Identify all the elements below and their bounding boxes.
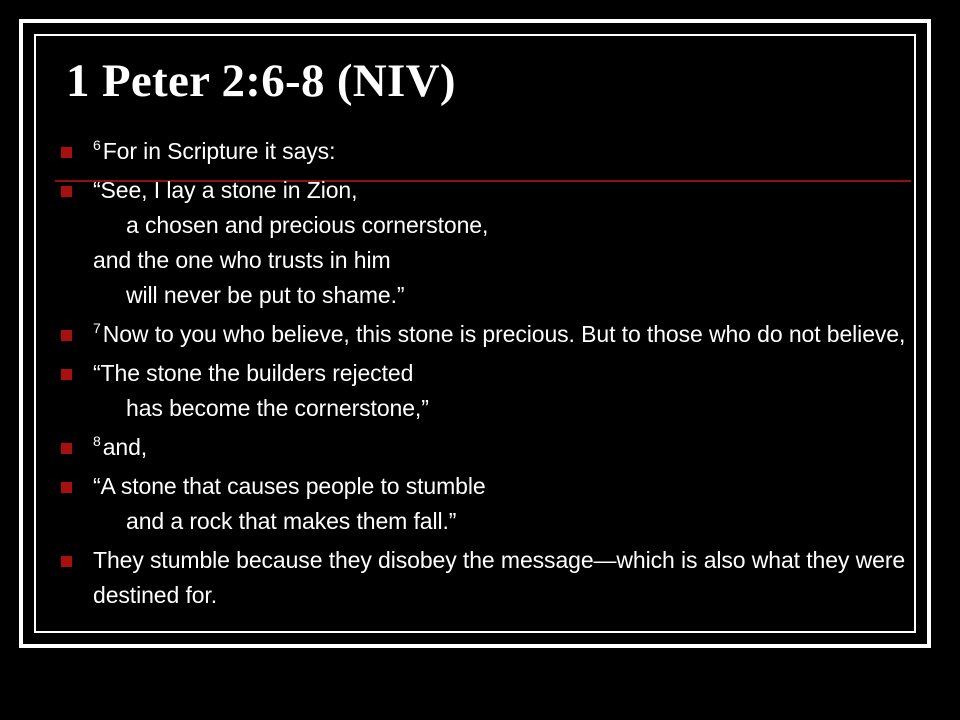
bullet-line-indented: a chosen and precious cornerstone, — [93, 208, 910, 243]
bullet-line-text: and, — [103, 434, 147, 460]
presentation-slide: 1 Peter 2:6-8 (NIV) 6For in Scripture it… — [0, 0, 960, 720]
bullet-text: 7Now to you who believe, this stone is p… — [93, 317, 910, 352]
bullet-line: “The stone the builders rejected — [93, 356, 910, 391]
bullet-line-indented: and a rock that makes them fall.” — [93, 504, 910, 539]
bullet-row: “The stone the builders rejectedhas beco… — [0, 356, 960, 426]
bullet-text: 6For in Scripture it says: — [93, 134, 910, 169]
bullet-row: 7Now to you who believe, this stone is p… — [0, 317, 960, 352]
bullet-line-indented: will never be put to shame.” — [93, 278, 910, 313]
bullet-text: They stumble because they disobey the me… — [93, 543, 910, 613]
bullet-text: 8and, — [93, 430, 910, 465]
bullet-line: 7Now to you who believe, this stone is p… — [93, 317, 910, 352]
bullet-line-text: For in Scripture it says: — [103, 138, 336, 164]
bullet-row: “A stone that causes people to stumblean… — [0, 469, 960, 539]
bullet-line: They stumble because they disobey the me… — [93, 543, 910, 613]
bullet-text: “A stone that causes people to stumblean… — [93, 469, 910, 539]
slide-title: 1 Peter 2:6-8 (NIV) — [66, 57, 886, 106]
square-bullet-icon — [61, 443, 72, 454]
verse-number: 6 — [93, 137, 103, 153]
bullet-line: “See, I lay a stone in Zion, — [93, 173, 910, 208]
bullet-line: 8and, — [93, 430, 910, 465]
square-bullet-icon — [61, 482, 72, 493]
bullet-text: “The stone the builders rejectedhas beco… — [93, 356, 910, 426]
bullet-row: 6For in Scripture it says: — [0, 134, 960, 169]
bullet-line-text: Now to you who believe, this stone is pr… — [103, 321, 906, 347]
slide-body-bullet-list: 6For in Scripture it says:“See, I lay a … — [0, 134, 960, 617]
bullet-line-indented: has become the cornerstone,” — [93, 391, 910, 426]
bullet-line: 6For in Scripture it says: — [93, 134, 910, 169]
square-bullet-icon — [61, 369, 72, 380]
square-bullet-icon — [61, 556, 72, 567]
bullet-row: “See, I lay a stone in Zion,a chosen and… — [0, 173, 960, 313]
square-bullet-icon — [61, 186, 72, 197]
bullet-line: and the one who trusts in him — [93, 243, 910, 278]
verse-number: 8 — [93, 433, 103, 449]
bullet-row: They stumble because they disobey the me… — [0, 543, 960, 613]
bullet-line: “A stone that causes people to stumble — [93, 469, 910, 504]
square-bullet-icon — [61, 147, 72, 158]
verse-number: 7 — [93, 320, 103, 336]
square-bullet-icon — [61, 330, 72, 341]
bullet-row: 8and, — [0, 430, 960, 465]
bullet-text: “See, I lay a stone in Zion,a chosen and… — [93, 173, 910, 313]
